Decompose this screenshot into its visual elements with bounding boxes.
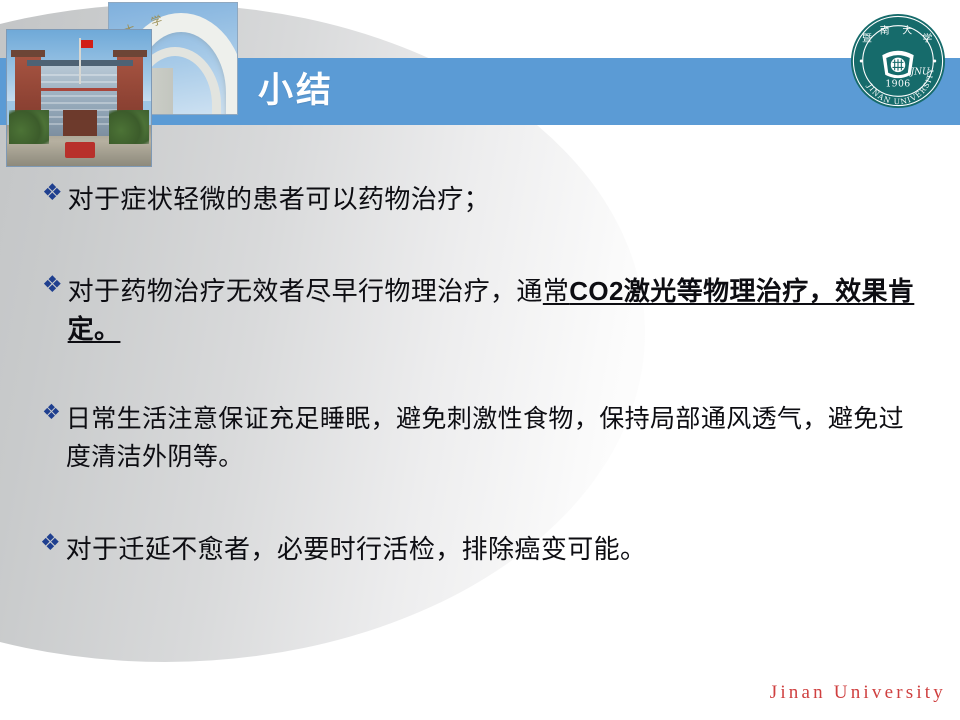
bullet-segment: 日常生活注意保证充足睡眠，避免刺激性食物，保持局部通风透气，避免过度清洁外阴等。 — [66, 405, 904, 471]
jinan-university-seal-icon: 暨 南 大 学 JNU 1906 JINAN UNIVERSITY — [849, 12, 947, 110]
slide-body: ❖ 对于症状轻微的患者可以药物治疗； ❖ 对于药物治疗无效者尽早行物理治疗，通常… — [0, 0, 960, 720]
bullet-text-1: 对于症状轻微的患者可以药物治疗； — [68, 180, 490, 218]
bullet-text-4: 对于迁延不愈者，必要时行活检，排除癌变可能。 — [66, 530, 647, 568]
bullet-item-3: ❖ 日常生活注意保证充足睡眠，避免刺激性食物，保持局部通风透气，避免过度清洁外阴… — [42, 400, 922, 476]
bullet-text-2: 对于药物治疗无效者尽早行物理治疗，通常CO2激光等物理治疗，效果肯定。 — [68, 272, 922, 348]
bullet-item-2: ❖ 对于药物治疗无效者尽早行物理治疗，通常CO2激光等物理治疗，效果肯定。 — [42, 272, 922, 348]
logo-year: 1906 — [885, 78, 910, 89]
bullet-item-1: ❖ 对于症状轻微的患者可以药物治疗； — [42, 180, 842, 218]
footer-brand: Jinan University — [770, 682, 946, 704]
bullet-segment: 对于药物治疗无效者尽早行物理治疗，通 — [68, 276, 543, 306]
bullet-item-4: ❖ 对于迁延不愈者，必要时行活检，排除癌变可能。 — [40, 530, 900, 568]
bullet-segment-underlined: 常 — [543, 276, 569, 306]
bullet-diamond-icon: ❖ — [40, 530, 61, 556]
bullet-diamond-icon: ❖ — [42, 180, 63, 206]
bullet-diamond-icon: ❖ — [42, 272, 63, 298]
presentation-slide: 大 学 暨南大学 小结 暨 南 大 — [0, 0, 960, 720]
jinan-university-logo: 暨 南 大 学 JNU 1906 JINAN UNIVERSITY — [849, 12, 947, 110]
bullet-segment: 对于迁延不愈者，必要时行活检，排除癌变可能。 — [66, 534, 647, 564]
bullet-segment: 对于症状轻微的患者可以药物治疗； — [68, 184, 490, 214]
bullet-diamond-icon: ❖ — [42, 400, 61, 424]
bullet-text-3: 日常生活注意保证充足睡眠，避免刺激性食物，保持局部通风透气，避免过度清洁外阴等。 — [66, 400, 922, 476]
